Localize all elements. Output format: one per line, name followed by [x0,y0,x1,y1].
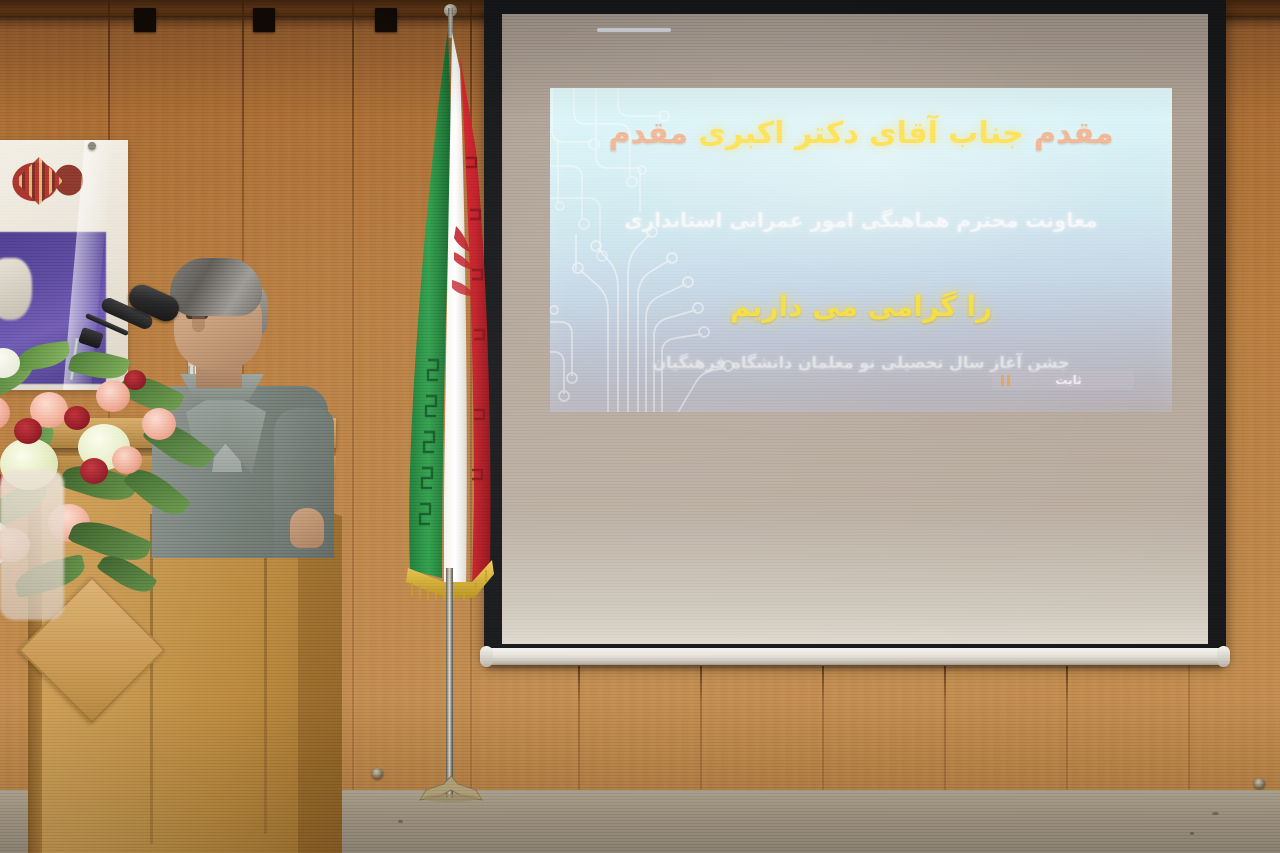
wall-outlet [1254,778,1265,789]
pink-rose [142,408,176,440]
wall-mount-bracket [134,8,156,32]
projected-slide: مقدم جناب آقای دکتر اکبری مقدم معاونت مح… [550,88,1172,412]
pink-rose [0,396,10,430]
wall-mount-bracket [253,8,275,32]
status-badge-label: ثابت [1012,373,1125,387]
slide-subtitle: معاونت محترم هماهنگی امور عمرانی استاندا… [550,206,1172,235]
slide-title-lead: مقدم [1024,116,1114,151]
wall-panel-seam [1066,666,1068,790]
pause-icon[interactable] [1001,375,1010,386]
leaf [17,340,72,371]
floor-speck [1190,832,1194,835]
wall-outlet [372,768,383,779]
slide-title-tail: مقدم [608,116,698,151]
flag-pole [446,568,453,798]
screen-bar-cap-right [1217,646,1230,667]
wall-panel-seam [578,666,580,790]
slide-title: مقدم جناب آقای دکتر اکبری مقدم [550,114,1172,153]
flag-cloth [398,30,508,600]
leaf [68,345,131,384]
screen-bottom-bar[interactable] [482,648,1228,665]
red-rose [80,458,108,484]
red-rose [14,418,42,444]
floor-speck [1212,812,1219,815]
left-foreground-cloth [0,470,64,620]
flag-stand-base [418,776,484,802]
iranian-flag [398,8,508,808]
status-badge[interactable]: ثابت [992,370,1134,390]
slide-text-block: مقدم جناب آقای دکتر اکبری مقدم معاونت مح… [550,88,1172,412]
banner-hook [88,142,96,150]
screen-top-mark [597,28,671,32]
wall-mount-bracket [375,8,397,32]
slide-honor-line: را گرامی می داریم [550,290,1172,323]
floor-speck [398,820,403,823]
wall-panel-seam [944,666,946,790]
speaker-hand [290,508,324,548]
wall-panel-seam [700,666,702,790]
screen-surface-area: مقدم جناب آقای دکتر اکبری مقدم معاونت مح… [502,14,1208,644]
red-rose [124,370,146,390]
wall-panel-seam [352,0,354,790]
wall-panel-seam [822,666,824,790]
screenshot-scene: مقدم جناب آقای دکتر اکبری مقدم معاونت مح… [0,0,1280,853]
red-rose [64,406,90,430]
pink-rose [112,446,142,474]
projection-screen-unit[interactable]: مقدم جناب آقای دکتر اکبری مقدم معاونت مح… [484,0,1226,672]
slide-title-highlight: جناب آقای دکتر اکبری [698,116,1023,151]
